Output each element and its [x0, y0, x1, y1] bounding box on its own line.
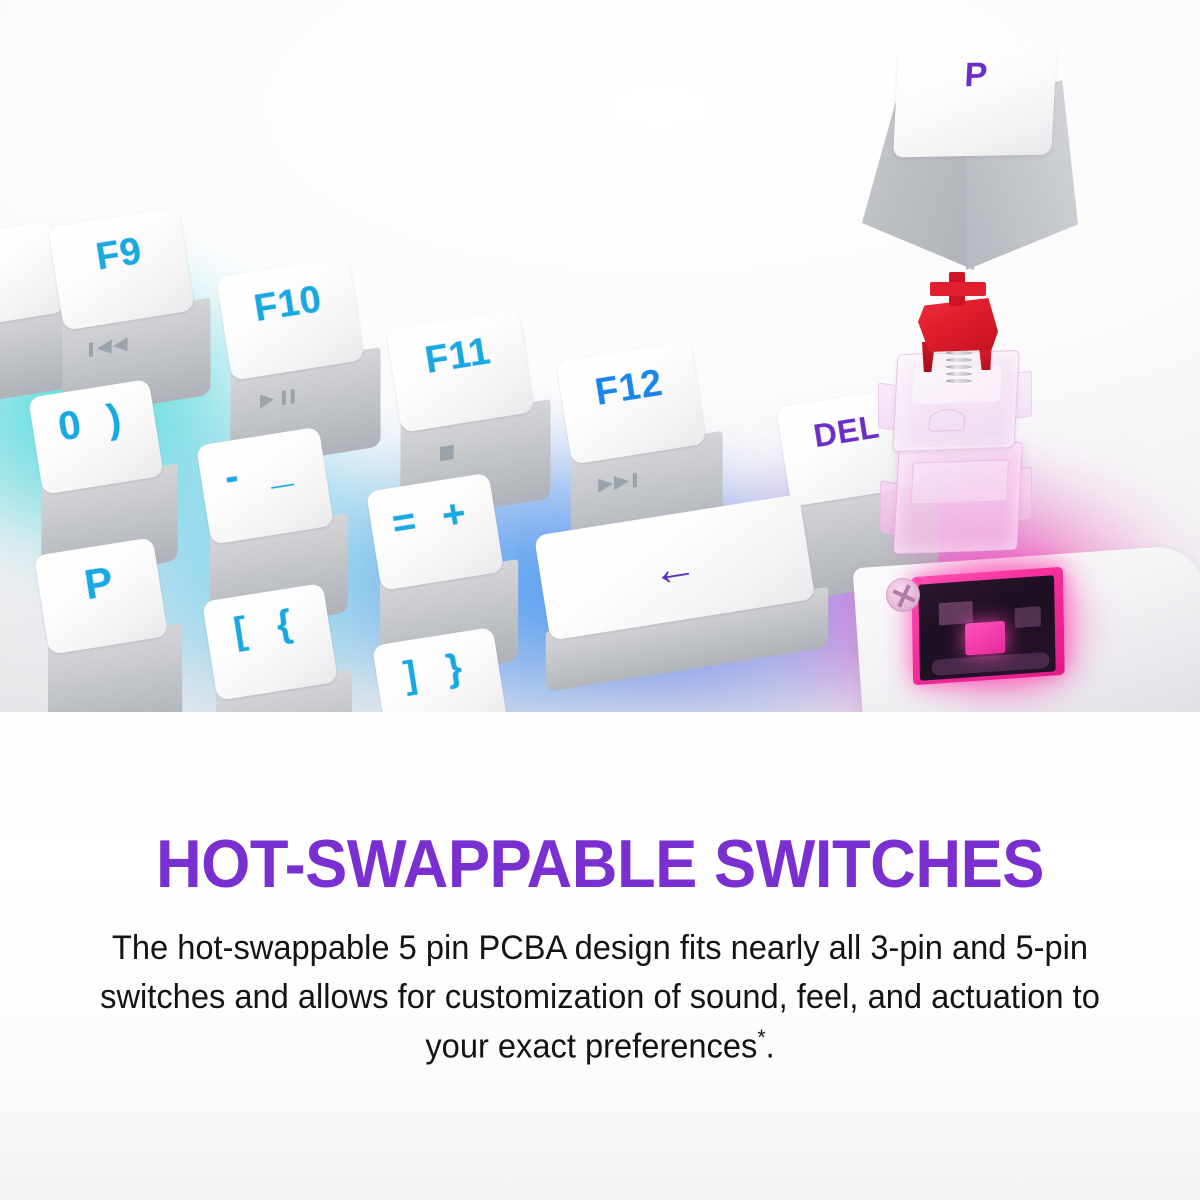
keycap-legend: P: [964, 58, 989, 92]
keycap-top-face: = +: [366, 473, 504, 591]
keycap-legend: - _: [222, 446, 304, 498]
keycap-top-face: F9: [48, 207, 195, 330]
switch-lower-housing: [893, 442, 1023, 554]
body-copy: The hot-swappable 5 pin PCBA design fits…: [72, 924, 1128, 1071]
body-copy-text: The hot-swappable 5 pin PCBA design fits…: [100, 929, 1100, 1065]
keycap-legend: DEL: [811, 410, 881, 452]
keycap-top-face: F11: [386, 309, 535, 433]
product-photo: F9 F10: [0, 0, 1200, 712]
keycap-legend: F10: [252, 280, 325, 328]
keycap-top-face: P: [893, 43, 1057, 158]
keycap-legend: 0 ): [56, 397, 132, 448]
product-feature-card: F9 F10: [0, 0, 1200, 1200]
keycap-top-face: P: [34, 537, 168, 655]
pcb-pad: [1015, 606, 1041, 628]
pcb-led: [965, 621, 1005, 656]
keycap-top-face: [ {: [202, 583, 338, 701]
switch-stem-body: [918, 298, 998, 352]
pcb-trace: [932, 652, 1050, 676]
keycap-legend: F12: [593, 364, 666, 412]
keycap-top-face: 0 ): [28, 379, 164, 495]
keycap-legend: ←: [648, 541, 702, 594]
body-copy-period: .: [766, 1027, 775, 1065]
floating-keycap: P: [848, 44, 1088, 294]
keycap-legend: [ {: [231, 603, 304, 651]
next-track-icon: [596, 470, 639, 495]
keycap-legend: ] }: [401, 647, 474, 695]
copy-panel: HOT-SWAPPABLE SWITCHES The hot-swappable…: [0, 712, 1200, 1200]
keycap-legend: F11: [423, 332, 494, 380]
pcb-pad: [939, 601, 973, 625]
prev-track-icon: [88, 335, 129, 360]
keycap-legend: F9: [93, 232, 144, 277]
keycap-legend: = +: [389, 492, 476, 544]
play-pause-icon: [258, 386, 301, 411]
stop-icon: [438, 442, 456, 463]
empty-switch-socket: [918, 575, 1055, 681]
keycap-legend: P: [82, 560, 117, 606]
headline: HOT-SWAPPABLE SWITCHES: [42, 830, 1158, 898]
keycap-top-face: F10: [216, 257, 365, 381]
keycap-top-face: F12: [556, 341, 707, 465]
keycap-top-face: - _: [196, 427, 334, 545]
